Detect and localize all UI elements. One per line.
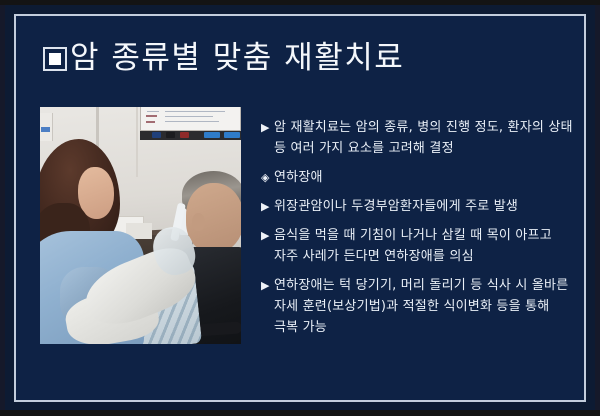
bullet-item-text: 위장관암이나 두경부암환자들에게 주로 발생 <box>274 196 518 217</box>
bullet-item: ▶ 음식을 먹을 때 기침이 나거나 삼킬 때 목이 아프고 자주 사레가 든다… <box>261 225 573 267</box>
triangle-bullet-icon: ▶ <box>261 225 274 246</box>
bullet-item: ▶ 연하장애는 턱 당기기, 머리 돌리기 등 식사 시 올바른 자세 훈련(보… <box>261 275 573 338</box>
photo-wall-seam-2 <box>136 107 138 177</box>
therapy-photo <box>40 107 241 344</box>
bullet-item: ◈ 연하장애 <box>261 167 573 188</box>
diamond-bullet-icon: ◈ <box>261 167 274 188</box>
title-square-marker-icon <box>43 47 67 71</box>
canvas-edge-top <box>0 0 600 5</box>
triangle-bullet-icon: ▶ <box>261 275 274 296</box>
bullet-list: ▶ 암 재활치료는 암의 종류, 병의 진행 정도, 환자의 상태 등 여러 가… <box>261 117 573 338</box>
bullet-item: ▶ 위장관암이나 두경부암환자들에게 주로 발생 <box>261 196 573 217</box>
canvas-edge-right <box>595 0 600 416</box>
photo-whiteboard <box>140 107 241 131</box>
slide-body: 암 종류별 맞춤 재활치료 <box>5 5 595 410</box>
photo-marker-3 <box>180 132 189 138</box>
photo-eraser-1 <box>204 132 220 138</box>
canvas-edge-bottom <box>0 410 600 416</box>
photo-patient-ear <box>192 213 205 231</box>
bullet-item-text: 음식을 먹을 때 기침이 나거나 삼킬 때 목이 아프고 자주 사레가 든다면 … <box>274 225 573 267</box>
photo-wall-poster-accent <box>41 127 50 132</box>
triangle-bullet-icon: ▶ <box>261 117 274 138</box>
triangle-bullet-icon: ▶ <box>261 196 274 217</box>
slide-title: 암 종류별 맞춤 재활치료 <box>43 43 404 74</box>
slide-canvas: 암 종류별 맞춤 재활치료 <box>0 0 600 416</box>
slide-title-text: 암 종류별 맞춤 재활치료 <box>70 43 404 74</box>
photo-eraser-2 <box>224 132 240 138</box>
photo-marker-1 <box>152 132 161 138</box>
bullet-item-text: 연하장애 <box>274 167 323 188</box>
bullet-item-text: 암 재활치료는 암의 종류, 병의 진행 정도, 환자의 상태 등 여러 가지 … <box>274 117 573 159</box>
bullet-item: ▶ 암 재활치료는 암의 종류, 병의 진행 정도, 환자의 상태 등 여러 가… <box>261 117 573 159</box>
photo-marker-2 <box>166 132 175 138</box>
bullet-item-text: 연하장애는 턱 당기기, 머리 돌리기 등 식사 시 올바른 자세 훈련(보상기… <box>274 275 573 338</box>
photo-scene <box>40 107 241 344</box>
